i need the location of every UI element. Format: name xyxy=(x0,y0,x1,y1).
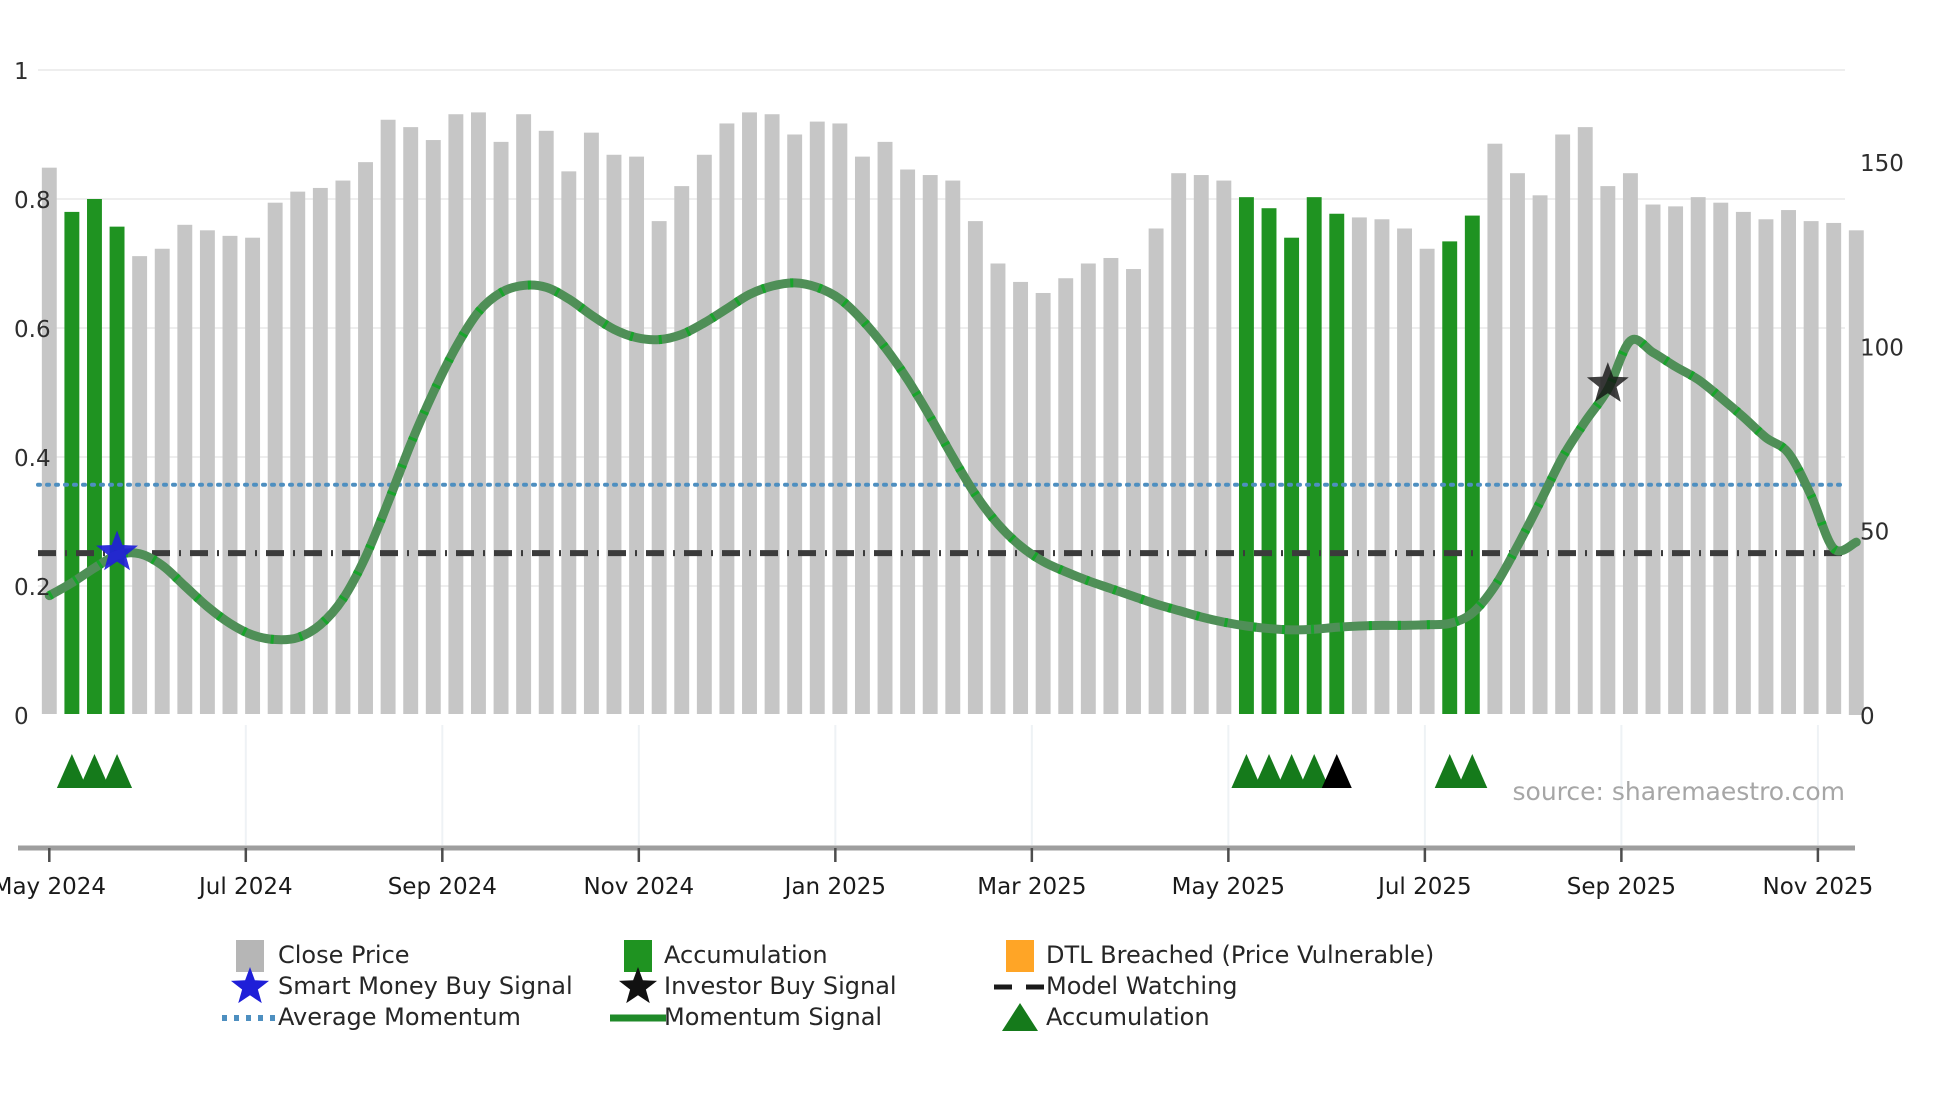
close-price-bar[interactable] xyxy=(584,133,599,715)
accumulation-marker-green[interactable] xyxy=(1457,754,1487,788)
close-price-bar[interactable] xyxy=(1420,249,1435,715)
close-price-bar[interactable] xyxy=(381,120,396,715)
close-price-bar[interactable] xyxy=(155,249,170,715)
right-axis-tick-label: 150 xyxy=(1860,151,1904,177)
close-price-bar[interactable] xyxy=(900,170,915,715)
close-price-bar[interactable] xyxy=(1216,181,1231,715)
legend-item: Smart Money Buy Signal xyxy=(231,967,573,1003)
chart-canvas: May 2024Jul 2024Sep 2024Nov 2024Jan 2025… xyxy=(0,0,1960,1102)
close-price-bar[interactable] xyxy=(1036,293,1051,715)
legend-item: Accumulation xyxy=(1002,1003,1210,1031)
accumulation-markers xyxy=(57,754,1487,788)
close-price-bar[interactable] xyxy=(674,186,689,715)
left-axis-tick-label: 0 xyxy=(14,704,29,730)
x-axis-tick-label: May 2024 xyxy=(0,874,106,900)
close-price-bar[interactable] xyxy=(1194,175,1209,715)
accumulation-bar[interactable] xyxy=(1442,241,1457,715)
close-price-bar[interactable] xyxy=(629,157,644,715)
right-axis-tick-label: 100 xyxy=(1860,335,1904,361)
legend-item-label: Average Momentum xyxy=(278,1003,521,1031)
close-price-bar[interactable] xyxy=(471,112,486,715)
source-note: source: sharemaestro.com xyxy=(1513,777,1846,806)
legend-item-label: Model Watching xyxy=(1046,972,1238,1000)
x-axis-tick-label: Jul 2024 xyxy=(197,874,293,900)
close-price-bar[interactable] xyxy=(1533,195,1548,715)
left-axis-tick-label: 0.8 xyxy=(14,188,51,214)
close-price-bar[interactable] xyxy=(1375,219,1390,715)
close-price-bar[interactable] xyxy=(42,168,57,715)
close-price-bar[interactable] xyxy=(742,112,757,715)
gridlines xyxy=(38,70,1845,586)
close-price-bar[interactable] xyxy=(1058,278,1073,715)
left-axis-tick-label: 0.2 xyxy=(14,575,51,601)
close-price-bar[interactable] xyxy=(426,140,441,715)
legend-swatch-star xyxy=(619,967,657,1003)
legend-swatch-triangle xyxy=(1002,1003,1038,1031)
legend-item-label: Accumulation xyxy=(664,941,828,969)
close-price-bar[interactable] xyxy=(200,230,215,715)
x-axis-tick-label: Jul 2025 xyxy=(1376,874,1472,900)
close-price-bar[interactable] xyxy=(1736,212,1751,715)
accumulation-bar[interactable] xyxy=(1307,197,1322,715)
close-price-bar[interactable] xyxy=(1126,269,1141,715)
legend-item: Model Watching xyxy=(994,972,1238,1000)
close-price-bar[interactable] xyxy=(1600,186,1615,715)
accumulation-bar[interactable] xyxy=(1329,214,1344,715)
legend-item: Momentum Signal xyxy=(610,1003,882,1031)
close-price-bar[interactable] xyxy=(539,131,554,715)
close-price-bar[interactable] xyxy=(223,236,238,715)
close-price-bar[interactable] xyxy=(177,225,192,715)
close-price-bar[interactable] xyxy=(1849,230,1864,715)
legend-swatch-square xyxy=(1006,940,1034,972)
close-price-bar[interactable] xyxy=(1646,205,1661,715)
close-price-bar[interactable] xyxy=(991,264,1006,716)
close-price-bar[interactable] xyxy=(448,114,463,715)
legend: Close PriceAccumulationDTL Breached (Pri… xyxy=(222,940,1434,1031)
close-price-bar[interactable] xyxy=(1826,223,1841,715)
legend-item: Average Momentum xyxy=(222,1003,521,1031)
close-price-bar[interactable] xyxy=(1713,203,1728,715)
legend-swatch-star xyxy=(231,967,269,1003)
x-axis-tick-label: Nov 2025 xyxy=(1763,874,1874,900)
x-axis-tick-label: Jan 2025 xyxy=(783,874,886,900)
left-axis-tick-label: 0.6 xyxy=(14,317,51,343)
close-price-bar[interactable] xyxy=(855,157,870,715)
legend-item-label: DTL Breached (Price Vulnerable) xyxy=(1046,941,1434,969)
close-price-bar[interactable] xyxy=(1691,197,1706,715)
close-price-bar[interactable] xyxy=(765,114,780,715)
right-axis-tick-label: 0 xyxy=(1860,704,1875,730)
legend-item-label: Smart Money Buy Signal xyxy=(278,972,573,1000)
close-price-bar[interactable] xyxy=(1352,217,1367,715)
legend-item-label: Close Price xyxy=(278,941,410,969)
left-axis-tick-label: 1 xyxy=(14,59,29,85)
legend-item: Close Price xyxy=(236,940,410,972)
close-price-bar[interactable] xyxy=(878,142,893,715)
close-price-bar[interactable] xyxy=(561,171,576,715)
close-price-bar[interactable] xyxy=(968,221,983,715)
x-axis-tick-label: May 2025 xyxy=(1172,874,1285,900)
accumulation-bar[interactable] xyxy=(1262,208,1277,715)
legend-item: Investor Buy Signal xyxy=(619,967,897,1003)
x-axis-tick-label: Sep 2025 xyxy=(1567,874,1676,900)
legend-item-label: Accumulation xyxy=(1046,1003,1210,1031)
accumulation-bar[interactable] xyxy=(110,227,125,715)
close-price-bar[interactable] xyxy=(313,188,328,715)
momentum-chart: May 2024Jul 2024Sep 2024Nov 2024Jan 2025… xyxy=(0,0,1960,1102)
accumulation-marker-black[interactable] xyxy=(1322,754,1352,788)
x-axis: May 2024Jul 2024Sep 2024Nov 2024Jan 2025… xyxy=(0,848,1873,900)
close-price-bar[interactable] xyxy=(494,142,509,715)
close-price-bar[interactable] xyxy=(832,123,847,715)
accumulation-bar[interactable] xyxy=(1465,216,1480,715)
right-axis-tick-label: 50 xyxy=(1860,520,1889,546)
close-price-bar[interactable] xyxy=(335,181,350,715)
left-axis-tick-label: 0.4 xyxy=(14,446,51,472)
close-price-bar[interactable] xyxy=(787,135,802,716)
close-price-bar[interactable] xyxy=(1555,135,1570,716)
x-axis-tick-label: Sep 2024 xyxy=(388,874,497,900)
close-price-bar[interactable] xyxy=(1081,264,1096,716)
accumulation-bar[interactable] xyxy=(1284,238,1299,715)
legend-item: DTL Breached (Price Vulnerable) xyxy=(1006,940,1434,972)
accumulation-bar[interactable] xyxy=(64,212,79,715)
close-price-bar[interactable] xyxy=(1397,228,1412,715)
close-price-bar[interactable] xyxy=(1487,144,1502,715)
close-price-bar[interactable] xyxy=(1149,228,1164,715)
accumulation-bar[interactable] xyxy=(1239,197,1254,715)
x-axis-tick-label: Nov 2024 xyxy=(583,874,694,900)
close-price-bar[interactable] xyxy=(245,238,260,715)
close-price-bar[interactable] xyxy=(923,175,938,715)
close-price-bar[interactable] xyxy=(652,221,667,715)
close-price-bar[interactable] xyxy=(1510,173,1525,715)
close-price-bar[interactable] xyxy=(1623,173,1638,715)
x-axis-tick-label: Mar 2025 xyxy=(977,874,1086,900)
accumulation-marker-green[interactable] xyxy=(102,754,132,788)
right-y-axis: 050100150 xyxy=(1860,151,1904,730)
close-price-bar[interactable] xyxy=(719,123,734,715)
legend-item: Accumulation xyxy=(624,940,828,972)
close-price-bar[interactable] xyxy=(358,162,373,715)
close-price-bar[interactable] xyxy=(1668,206,1683,715)
close-price-bar[interactable] xyxy=(1804,221,1819,715)
close-price-bar[interactable] xyxy=(1013,282,1028,715)
accumulation-bar[interactable] xyxy=(87,199,102,715)
close-price-bar[interactable] xyxy=(810,122,825,715)
close-price-bar[interactable] xyxy=(607,155,622,715)
close-price-bar[interactable] xyxy=(697,155,712,715)
source-note-text: source: sharemaestro.com xyxy=(1513,777,1846,806)
close-price-bar[interactable] xyxy=(1171,173,1186,715)
close-price-bar[interactable] xyxy=(1758,219,1773,715)
legend-item-label: Investor Buy Signal xyxy=(664,972,897,1000)
close-price-bar[interactable] xyxy=(516,114,531,715)
legend-item-label: Momentum Signal xyxy=(664,1003,882,1031)
